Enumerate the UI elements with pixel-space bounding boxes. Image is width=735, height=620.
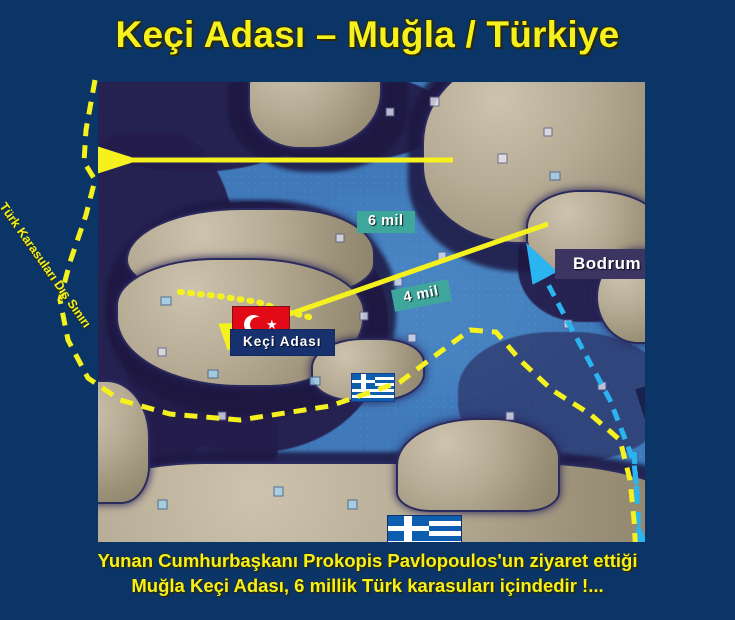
greek-cross-horizontal [352, 380, 375, 383]
greek-flag-large [387, 515, 462, 542]
distance-label-6mil: 6 mil [357, 211, 415, 233]
caption-line-2: Muğla Keçi Adası, 6 millik Türk karasula… [0, 575, 735, 597]
page-title: Keçi Adası – Muğla / Türkiye [0, 14, 735, 56]
greek-flag-small [351, 373, 395, 402]
land-istankoy-cape [398, 420, 558, 510]
place-label-bodrum: Bodrum [555, 249, 645, 279]
greek-cross-horizontal [388, 526, 429, 531]
land-istankoy [98, 464, 645, 542]
map-image: ★ 6 mil 4 mil Bodrum Keçi Adası İstanköy… [98, 82, 645, 542]
title-bar: Keçi Adası – Muğla / Türkiye [0, 0, 735, 82]
caption-line-1: Yunan Cumhurbaşkanı Prokopis Pavlopoulos… [0, 550, 735, 572]
place-label-keci-adasi: Keçi Adası [230, 329, 335, 356]
caption-bar: Yunan Cumhurbaşkanı Prokopis Pavlopoulos… [0, 542, 735, 620]
territorial-boundary-label: Türk Karasuları Dış Sınırı [0, 200, 94, 330]
